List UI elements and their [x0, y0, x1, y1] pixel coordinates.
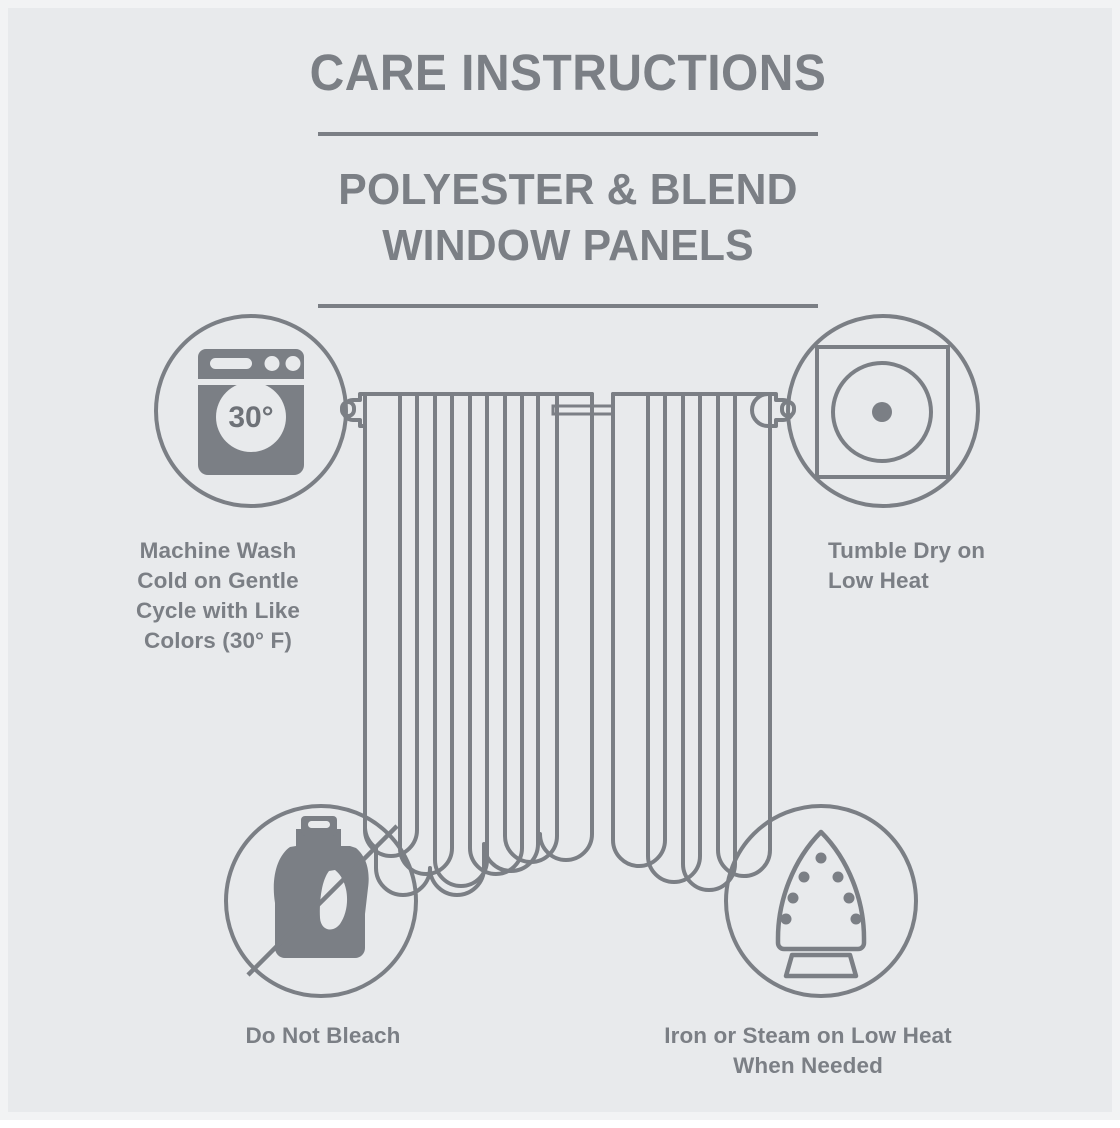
caption-line: Iron or Steam on Low Heat — [603, 1021, 1013, 1051]
washer-knob-1 — [265, 356, 280, 371]
curtain-rod — [553, 406, 613, 414]
care-instructions-card: CARE INSTRUCTIONS POLYESTER & BLEND WIND… — [0, 0, 1120, 1120]
iron-soleplate — [778, 832, 864, 949]
caption-line: Tumble Dry on — [828, 536, 1088, 566]
caption-line: Low Heat — [828, 566, 1088, 596]
caption-line: Colors (30° F) — [78, 626, 358, 656]
caption-line: Cold on Gentle — [78, 566, 358, 596]
iron-base — [786, 955, 856, 976]
washer-panel-slot — [210, 358, 252, 369]
dryer-center-dot — [872, 402, 892, 422]
no-bleach-icon-group — [226, 806, 416, 996]
caption-iron: Iron or Steam on Low Heat When Needed — [603, 1021, 1013, 1081]
wash-temperature-badge: 30° — [228, 401, 273, 434]
washer-knob-2 — [286, 356, 301, 371]
curtain-window-panels-illustration — [342, 394, 794, 895]
rod-bar — [553, 406, 613, 414]
bleach-bottle — [274, 829, 369, 958]
washing-machine-icon: 30° — [198, 349, 304, 475]
caption-tumble-dry: Tumble Dry on Low Heat — [828, 536, 1088, 596]
iron-icon — [778, 832, 864, 976]
right-panel-pleats — [613, 394, 770, 890]
iron-steam-holes — [781, 853, 862, 925]
tumble-dry-icon-group — [788, 316, 978, 506]
caption-line: Do Not Bleach — [193, 1021, 453, 1051]
caption-line: When Needed — [603, 1051, 1013, 1081]
bleach-cap-slot — [308, 821, 330, 828]
tumble-dry-icon — [817, 347, 948, 477]
caption-do-not-bleach: Do Not Bleach — [193, 1021, 453, 1051]
caption-line: Cycle with Like — [78, 596, 358, 626]
machine-wash-icon-group: 30° — [156, 316, 346, 506]
caption-machine-wash: Machine Wash Cold on Gentle Cycle with L… — [78, 536, 358, 656]
caption-line: Machine Wash — [78, 536, 358, 566]
iron-icon-group — [726, 806, 916, 996]
